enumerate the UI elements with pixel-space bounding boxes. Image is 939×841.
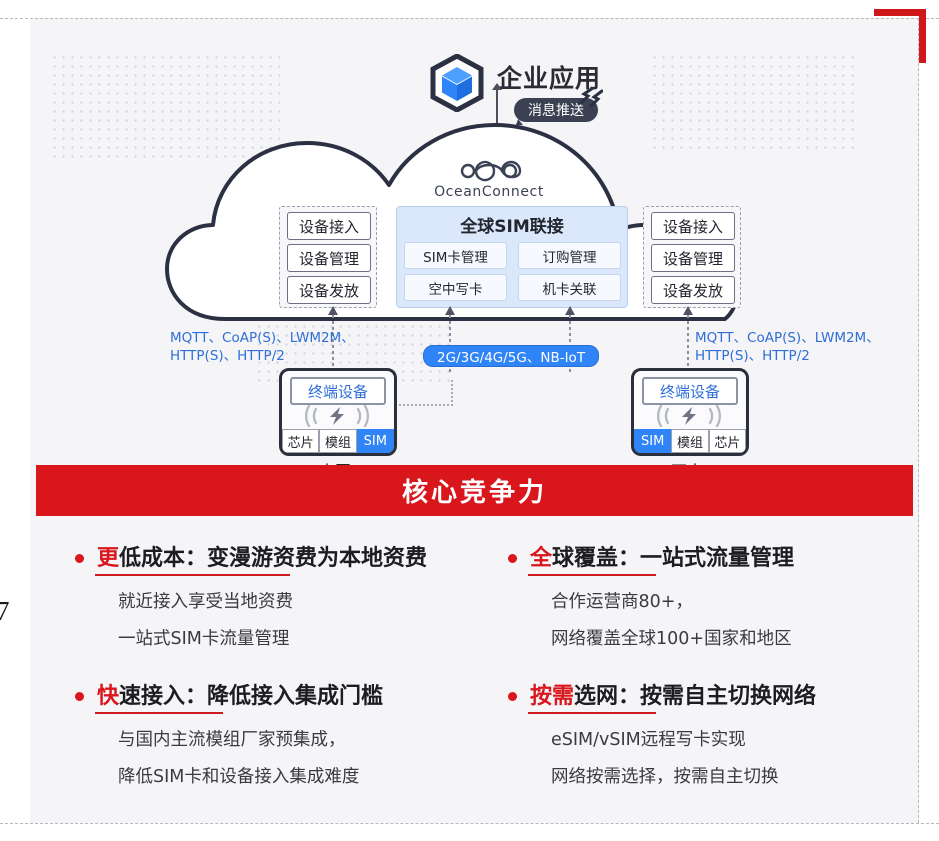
wireless-signal-icon [300, 405, 374, 427]
feature-heading-rest: 低成本：变漫游资费为本地资费 [119, 546, 427, 571]
core-competency-banner: 核心竞争力 [36, 465, 913, 516]
chip-apac-1[interactable]: 模组 [671, 429, 708, 453]
device-title-apac: 终端设备 [642, 377, 738, 405]
bullet-icon [508, 554, 517, 563]
feature-heading-rest: 速接入：降低接入集成门槛 [119, 684, 383, 709]
device-chips-apac: SIM 模组 芯片 [634, 429, 746, 453]
feature-line: 合作运营商80+， [551, 588, 693, 613]
page-number: 7 [0, 596, 10, 627]
global-sim-group: 全球SIM联接 SIM卡管理 订购管理 空中写卡 机卡关联 [396, 206, 628, 308]
feature-heading-rest: 选网：按需自主切换网络 [574, 684, 816, 709]
heading-underline [95, 712, 223, 714]
chip-china-1[interactable]: 模组 [319, 429, 356, 453]
heading-underline [95, 574, 290, 576]
feature-heading: 全球覆盖：一站式流量管理 [530, 540, 794, 572]
feature-heading: 按需选网：按需自主切换网络 [530, 678, 816, 710]
chip-china-sim[interactable]: SIM [357, 429, 394, 453]
feature-line: 降低SIM卡和设备接入集成难度 [118, 763, 359, 788]
device-caption-china: 中国 [279, 458, 391, 465]
signal-zigzag-icon [579, 87, 603, 107]
network-generation-pill: 2G/3G/4G/5G、NB-IoT [423, 345, 599, 367]
oceanconnect-label: OceanConnect [423, 184, 555, 200]
feature-heading: 快速接入：降低接入集成门槛 [97, 678, 383, 710]
left-item-manage[interactable]: 设备管理 [287, 244, 371, 272]
heading-underline [528, 574, 656, 576]
device-box-apac: 终端设备 SIM 模组 芯片 [631, 368, 749, 456]
sim-connector-left-up [451, 380, 453, 406]
device-caption-apac: 亚太 [631, 458, 743, 465]
right-item-provision[interactable]: 设备发放 [651, 276, 735, 304]
feature-line: 一站式SIM卡流量管理 [118, 625, 289, 650]
bullet-icon [75, 554, 84, 563]
right-item-access[interactable]: 设备接入 [651, 212, 735, 240]
bullet-icon [508, 692, 517, 701]
sim-cell-card-management[interactable]: SIM卡管理 [404, 242, 507, 269]
chip-apac-sim[interactable]: SIM [634, 429, 671, 453]
feature-line: 网络覆盖全球100+国家和地区 [551, 625, 792, 650]
left-item-access[interactable]: 设备接入 [287, 212, 371, 240]
oceanconnect-infinity-icon [454, 157, 524, 185]
feature-grid: 更低成本：变漫游资费为本地资费 就近接入享受当地资费 一站式SIM卡流量管理 快… [30, 530, 919, 820]
device-chips-china: 芯片 模组 SIM [282, 429, 394, 453]
chip-apac-2[interactable]: 芯片 [709, 429, 746, 453]
architecture-diagram: 企业应用 消息推送 OceanConnect 设备接入 设备管理 设备发放 [30, 18, 919, 465]
feature-line: eSIM/vSIM远程写卡实现 [551, 726, 746, 751]
sim-cell-device-binding[interactable]: 机卡关联 [518, 274, 621, 301]
frame-dash-bottom [0, 823, 939, 824]
wireless-signal-icon [652, 405, 726, 427]
right-device-group: 设备接入 设备管理 设备发放 [643, 206, 741, 308]
sim-cell-ota-write[interactable]: 空中写卡 [404, 274, 507, 301]
left-item-provision[interactable]: 设备发放 [287, 276, 371, 304]
device-title-china: 终端设备 [290, 377, 386, 405]
device-box-china: 终端设备 芯片 模组 SIM [279, 368, 397, 456]
feature-heading-highlight: 更 [97, 546, 119, 571]
protocol-label-right: MQTT、CoAP(S)、LWM2M、 HTTP(S)、HTTP/2 [695, 329, 880, 365]
sim-cell-order-management[interactable]: 订购管理 [518, 242, 621, 269]
feature-line: 与国内主流模组厂家预集成， [118, 726, 346, 751]
right-item-manage[interactable]: 设备管理 [651, 244, 735, 272]
uplink-arrow-4 [687, 315, 689, 375]
feature-heading-highlight: 按需 [530, 684, 574, 709]
heading-underline [528, 712, 656, 714]
protocol-label-left: MQTT、CoAP(S)、LWM2M、 HTTP(S)、HTTP/2 [170, 329, 355, 365]
page-root: 7 企业应用 消息推送 [0, 0, 939, 841]
bullet-icon [75, 692, 84, 701]
feature-heading-highlight: 快 [97, 684, 119, 709]
left-device-group: 设备接入 设备管理 设备发放 [279, 206, 377, 308]
banner-title: 核心竞争力 [402, 472, 547, 509]
global-sim-title: 全球SIM联接 [397, 212, 627, 237]
feature-line: 网络按需选择，按需自主切换 [551, 763, 779, 788]
cube-hexagon-icon [429, 54, 485, 112]
feature-line: 就近接入享受当地资费 [118, 588, 293, 613]
feature-heading-rest: 球覆盖：一站式流量管理 [552, 546, 794, 571]
chip-china-0[interactable]: 芯片 [282, 429, 319, 453]
feature-heading-highlight: 全 [530, 546, 552, 571]
feature-heading: 更低成本：变漫游资费为本地资费 [97, 540, 427, 572]
